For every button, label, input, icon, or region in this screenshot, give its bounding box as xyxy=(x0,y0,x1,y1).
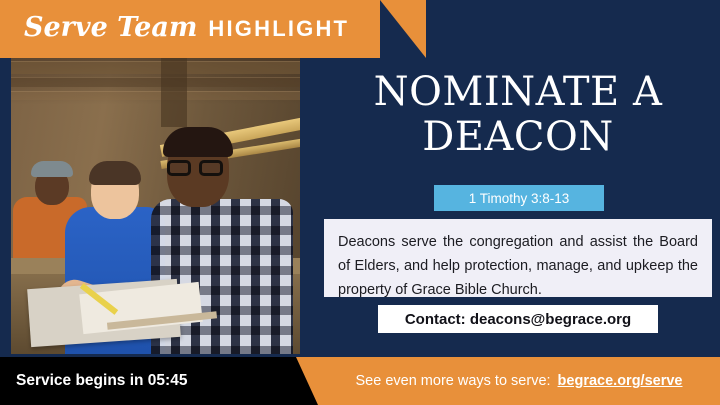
photo-glasses-right-lens xyxy=(199,160,223,176)
serve-team-photo xyxy=(11,57,300,354)
footer-cta-text: See even more ways to serve: xyxy=(356,373,551,389)
footer-cta-link[interactable]: begrace.org/serve xyxy=(558,373,683,389)
photo-glasses-left-lens xyxy=(167,160,191,176)
service-timer-label: Service begins in 05:45 xyxy=(16,372,187,390)
serve-team-banner: Serve Team HIGHLIGHT xyxy=(0,0,380,58)
contact-box: Contact: deacons@begrace.org xyxy=(378,305,658,333)
contact-label: Contact: deacons@begrace.org xyxy=(405,311,631,328)
main-content: NOMINATE A DEACON 1 Timothy 3:8-13 Deaco… xyxy=(316,58,720,355)
photo-plank xyxy=(11,61,300,74)
service-timer: Service begins in 05:45 xyxy=(0,357,296,405)
photo-beam xyxy=(161,57,187,127)
photo-plank xyxy=(11,91,300,100)
verse-reference-chip: 1 Timothy 3:8-13 xyxy=(434,185,604,211)
page-title: NOMINATE A DEACON xyxy=(316,70,720,160)
photo-person-plaid-shirt-hair xyxy=(163,127,233,157)
description-text: Deacons serve the congregation and assis… xyxy=(338,230,698,302)
verse-reference-label: 1 Timothy 3:8-13 xyxy=(469,191,570,206)
footer-cta: See even more ways to serve: begrace.org… xyxy=(318,357,720,405)
slide-root: Serve Team HIGHLIGHT NOMINATE A DEACON xyxy=(0,0,720,405)
banner-script-label: Serve Team xyxy=(24,14,197,41)
banner-inner: Serve Team HIGHLIGHT xyxy=(24,0,349,58)
photo-person-background-cap xyxy=(31,161,73,177)
description-box: Deacons serve the congregation and assis… xyxy=(324,219,712,297)
photo-person-blue-shirt-hair xyxy=(89,161,141,185)
banner-highlight-label: HIGHLIGHT xyxy=(208,16,349,42)
photo-plank xyxy=(11,77,300,87)
